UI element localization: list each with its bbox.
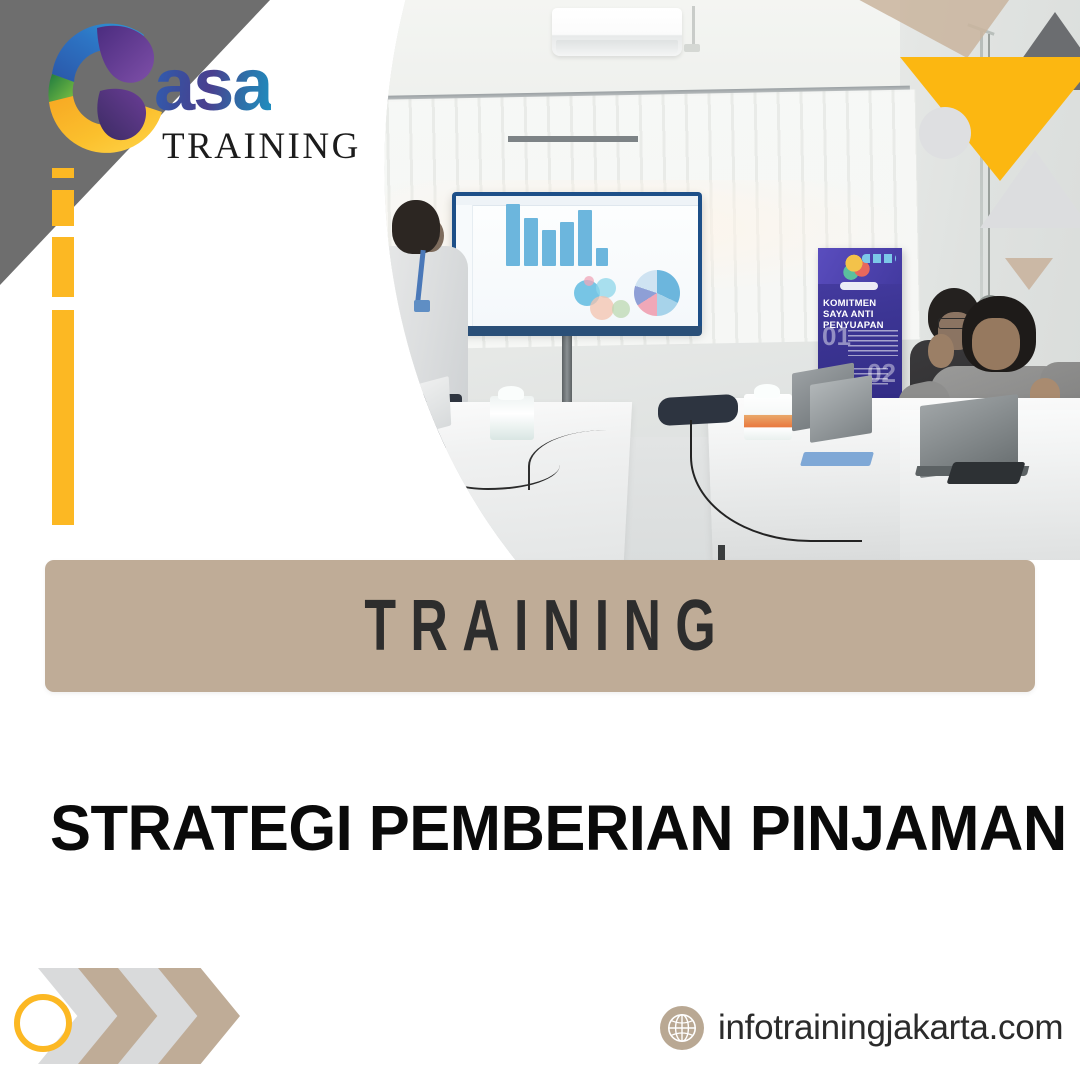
bar-3 <box>52 237 74 297</box>
globe-icon <box>660 1006 704 1050</box>
presenter-head <box>392 200 440 254</box>
ac-vent <box>556 40 678 55</box>
poster-canvas: KOMITMEN SAYA ANTI PENYUAPAN 01 02 <box>0 0 1080 1080</box>
chart-pie <box>634 270 680 316</box>
website-url: infotrainingjakarta.com <box>718 1008 1063 1048</box>
table-leg <box>718 545 725 560</box>
training-banner-label: TRAINING <box>350 590 730 662</box>
logo-subtitle: TRAINING <box>162 125 361 168</box>
chart-bar <box>578 210 592 266</box>
screen-content <box>456 196 698 328</box>
presenter-arm <box>362 262 392 392</box>
tv-stand-arm <box>508 136 638 142</box>
presenter-watch <box>362 380 388 392</box>
training-banner: TRAINING <box>45 560 1035 692</box>
tv-bezel <box>452 326 702 336</box>
tissue-box-left <box>490 396 534 440</box>
standee-body-lines <box>848 330 898 356</box>
page-title: STRATEGI PEMBERIAN PINJAMAN <box>50 793 1000 863</box>
logo-wordmark: asa <box>154 48 271 122</box>
ac-pipe-bracket <box>684 44 700 52</box>
website-line[interactable]: infotrainingjakarta.com <box>660 1004 1063 1052</box>
chart-bar <box>506 204 520 266</box>
chart-bubble <box>590 296 614 320</box>
chart-bar <box>524 218 538 266</box>
participant-2-face <box>972 318 1020 370</box>
chart-bar <box>560 222 574 266</box>
standee-number-1: 01 <box>822 324 851 348</box>
screen-toolbar <box>456 196 698 206</box>
chart-bar <box>596 248 608 266</box>
chart-bubble <box>612 300 630 318</box>
bar-2 <box>52 190 74 226</box>
gray-circle <box>919 107 971 159</box>
bar-4 <box>52 310 74 525</box>
standee-dots <box>862 254 896 263</box>
presenter-badge <box>414 300 430 312</box>
participant-2-hand <box>928 334 954 368</box>
smartboard-display <box>452 192 702 332</box>
standee-chip <box>840 282 878 290</box>
chart-bar <box>542 230 556 266</box>
phone-on-table <box>946 462 1025 484</box>
chart-bubble <box>596 278 616 298</box>
yellow-ring <box>14 994 72 1052</box>
chart-bubble <box>584 276 594 286</box>
chevron-decoration <box>14 968 244 1064</box>
brand-logo[interactable]: asa TRAINING <box>34 12 354 172</box>
